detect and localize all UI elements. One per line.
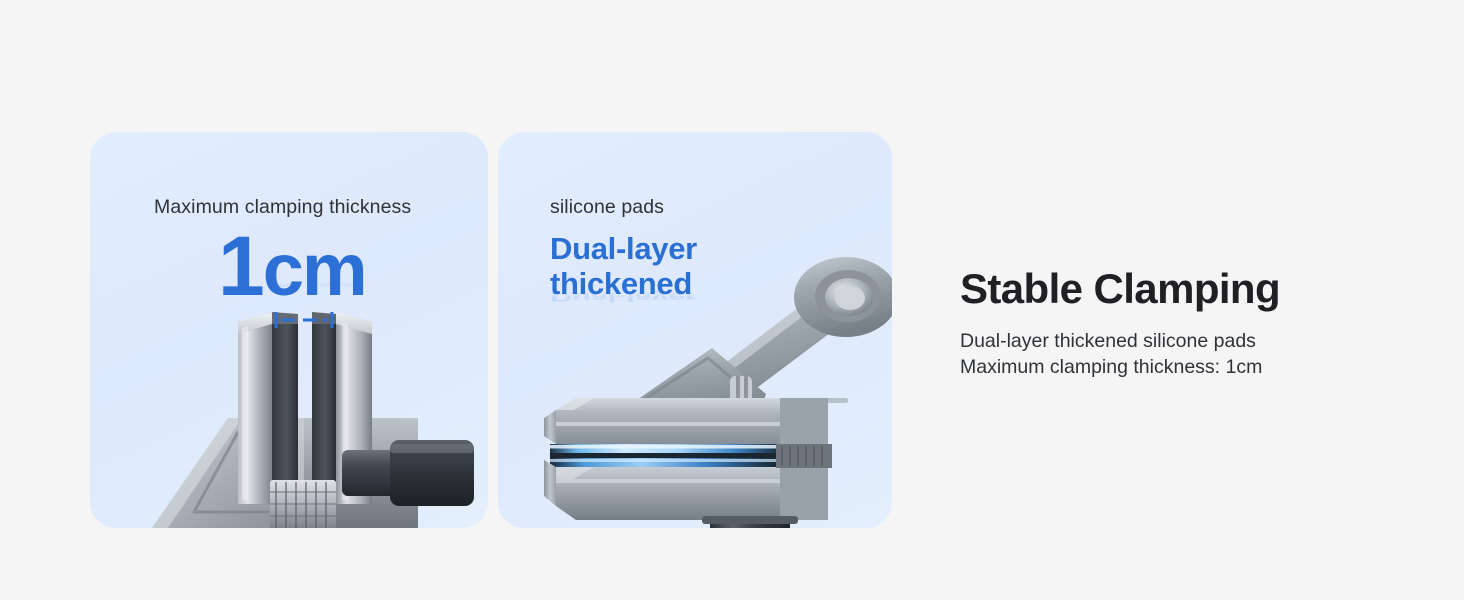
feature-description: Dual-layer thickened silicone pads Maxim… — [960, 328, 1380, 381]
pad-divider — [550, 453, 780, 458]
clamp-base-illustration — [498, 132, 892, 528]
feature-info-block: Stable Clamping Dual-layer thickened sil… — [960, 265, 1380, 381]
feature-description-line-1: Dual-layer thickened silicone pads — [960, 328, 1380, 354]
clamp-right-block — [776, 398, 832, 520]
silicone-pad-glow-upper — [550, 444, 780, 453]
feature-title: Stable Clamping — [960, 265, 1380, 312]
feature-panel-max-thickness: Maximum clamping thickness 1cm 1cm — [90, 132, 488, 528]
product-feature-banner: Maximum clamping thickness 1cm 1cm — [0, 0, 1464, 600]
feature-panel-silicone-pads: silicone pads Dual-layer thickened Dual-… — [498, 132, 892, 528]
clamp-jaw-left — [238, 312, 298, 504]
knurled-screw — [270, 480, 336, 528]
feature-description-line-2: Maximum clamping thickness: 1cm — [960, 354, 1380, 380]
clamp-jaws-illustration — [90, 132, 488, 528]
mounting-post — [702, 516, 892, 528]
silicone-pad-glow-lower — [550, 458, 780, 467]
